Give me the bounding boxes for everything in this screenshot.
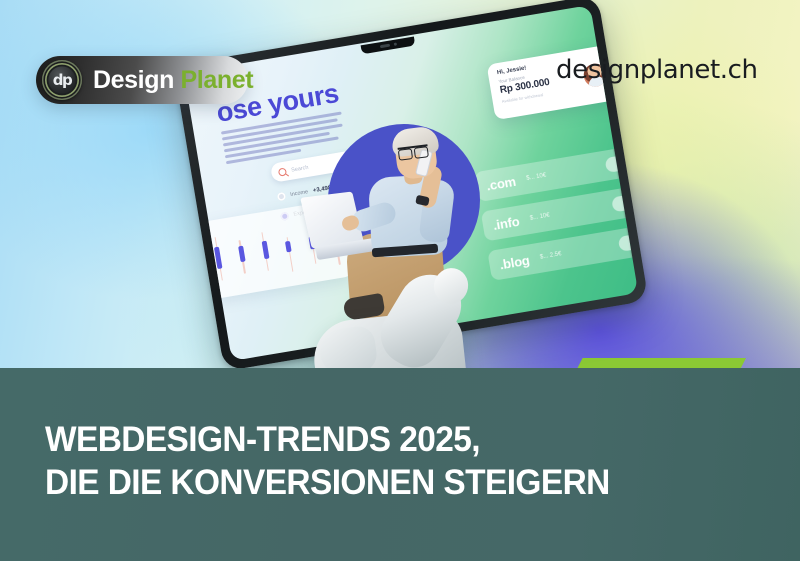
logo-monogram: dp (42, 60, 82, 100)
search-icon (278, 167, 287, 176)
poster-canvas: ose yours Search Income +3,498.21 Expens… (0, 0, 800, 561)
chart-bar (258, 220, 273, 282)
logo-emblem-icon: dp (42, 60, 82, 100)
chart-bar (234, 224, 249, 286)
income-dot-icon (277, 192, 286, 201)
domain-price: $... 2.5€ (540, 251, 562, 260)
website-url[interactable]: designplanet.ch (556, 55, 758, 85)
headline: WEBDESIGN-TRENDS 2025, DIE DIE KONVERSIO… (45, 418, 610, 505)
bottom-banner: WEBDESIGN-TRENDS 2025, DIE DIE KONVERSIO… (0, 368, 800, 561)
headline-line-2: DIE DIE KONVERSIONEN STEIGERN (45, 461, 610, 504)
brand-logo[interactable]: dp Design Planet (36, 56, 248, 104)
headline-line-1: WEBDESIGN-TRENDS 2025, (45, 420, 480, 459)
domain-name: .info (492, 213, 521, 232)
chart-bar (281, 216, 296, 278)
logo-word-design: Design (93, 66, 174, 94)
search-placeholder: Search (291, 164, 309, 173)
domain-price: $... 10€ (526, 173, 547, 182)
logo-wordmark: Design Planet (93, 66, 253, 95)
logo-word-planet: Planet (181, 66, 254, 94)
domain-price: $... 10€ (529, 213, 550, 222)
